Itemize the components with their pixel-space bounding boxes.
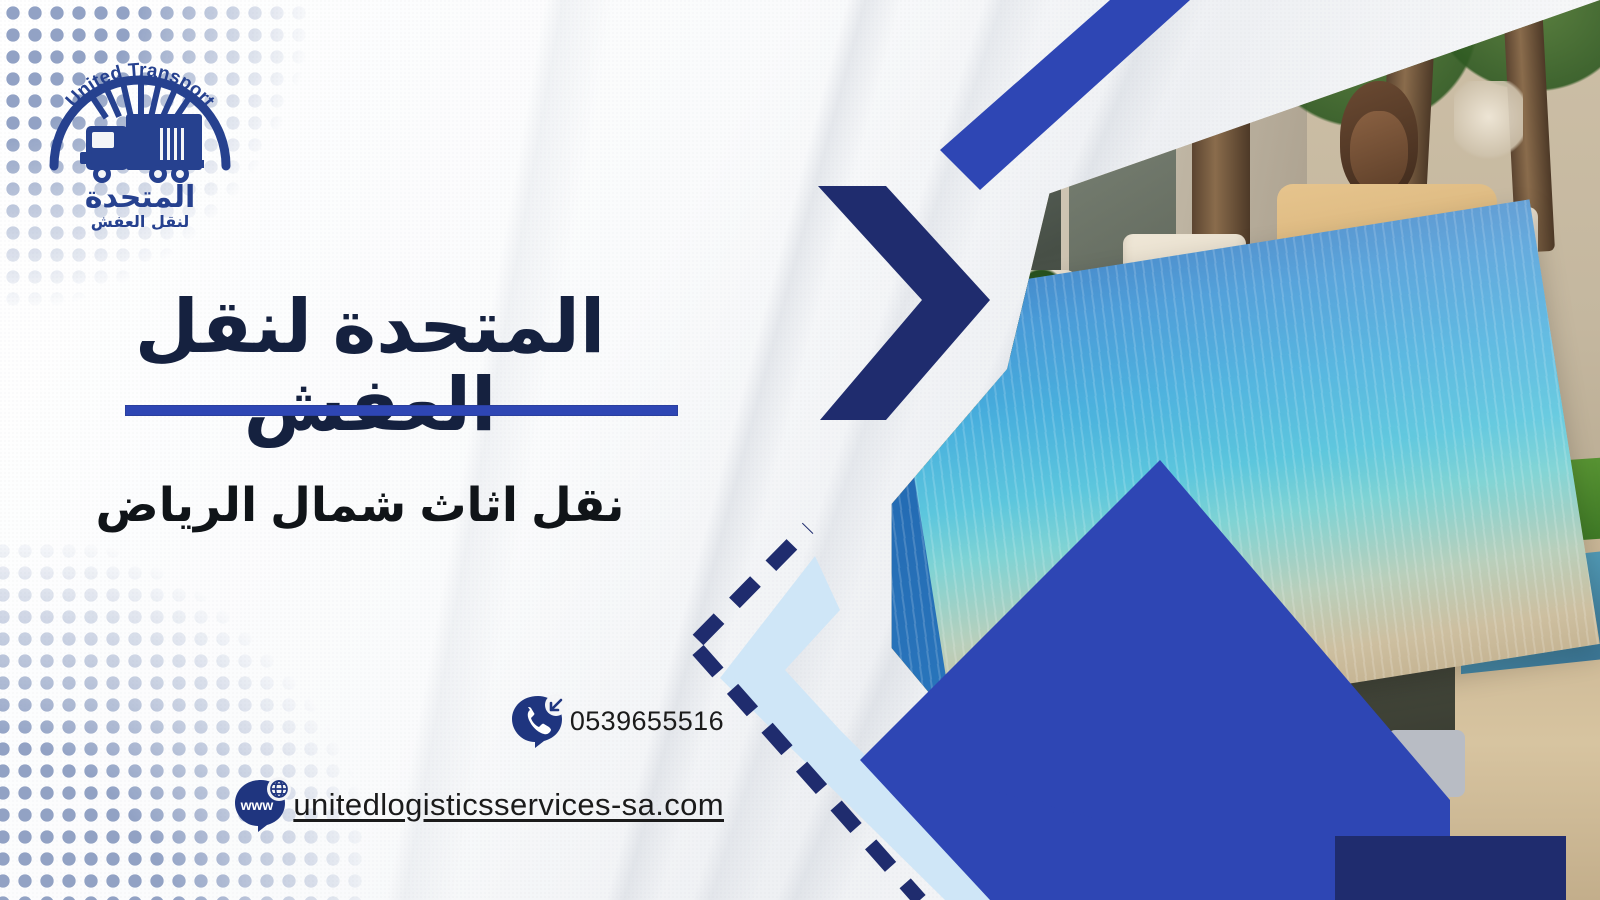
- company-logo: United Transport: [40, 42, 240, 232]
- navy-chevron-arrow: [818, 186, 990, 420]
- logo-arabic-sub: لنقل العفش: [91, 212, 190, 231]
- page-title: المتحدة لنقل العفش: [0, 288, 740, 445]
- dashed-chevron-upper: [698, 528, 808, 640]
- logo-arabic-main: المتحدة: [85, 180, 196, 215]
- phone-call-bubble-icon: [508, 692, 570, 750]
- contact-phone-row[interactable]: 0539655516: [118, 692, 738, 750]
- headline-block: المتحدة لنقل العفش: [0, 288, 740, 445]
- dashed-chevron-lower: [698, 650, 920, 900]
- hero-photo: [830, 0, 1600, 900]
- semi-truck-icon: [80, 114, 204, 183]
- hero-artwork: [690, 0, 1600, 900]
- page-subtitle: نقل اثاث شمال الرياض: [0, 478, 720, 532]
- www-globe-bubble-icon: www: [231, 776, 293, 834]
- contact-website-row[interactable]: www unitedlogisticsservices-sa.com: [118, 776, 738, 834]
- photo-scene: [830, 0, 1600, 900]
- banner-canvas: United Transport: [0, 0, 1600, 900]
- title-divider-rule: [125, 405, 678, 416]
- contact-list: 0539655516 www unitedlogisticsservices-s…: [118, 692, 738, 860]
- website-url-text: unitedlogisticsservices-sa.com: [293, 787, 724, 823]
- subheadline-block: نقل اثاث شمال الرياض: [0, 478, 720, 532]
- svg-text:www: www: [240, 797, 274, 813]
